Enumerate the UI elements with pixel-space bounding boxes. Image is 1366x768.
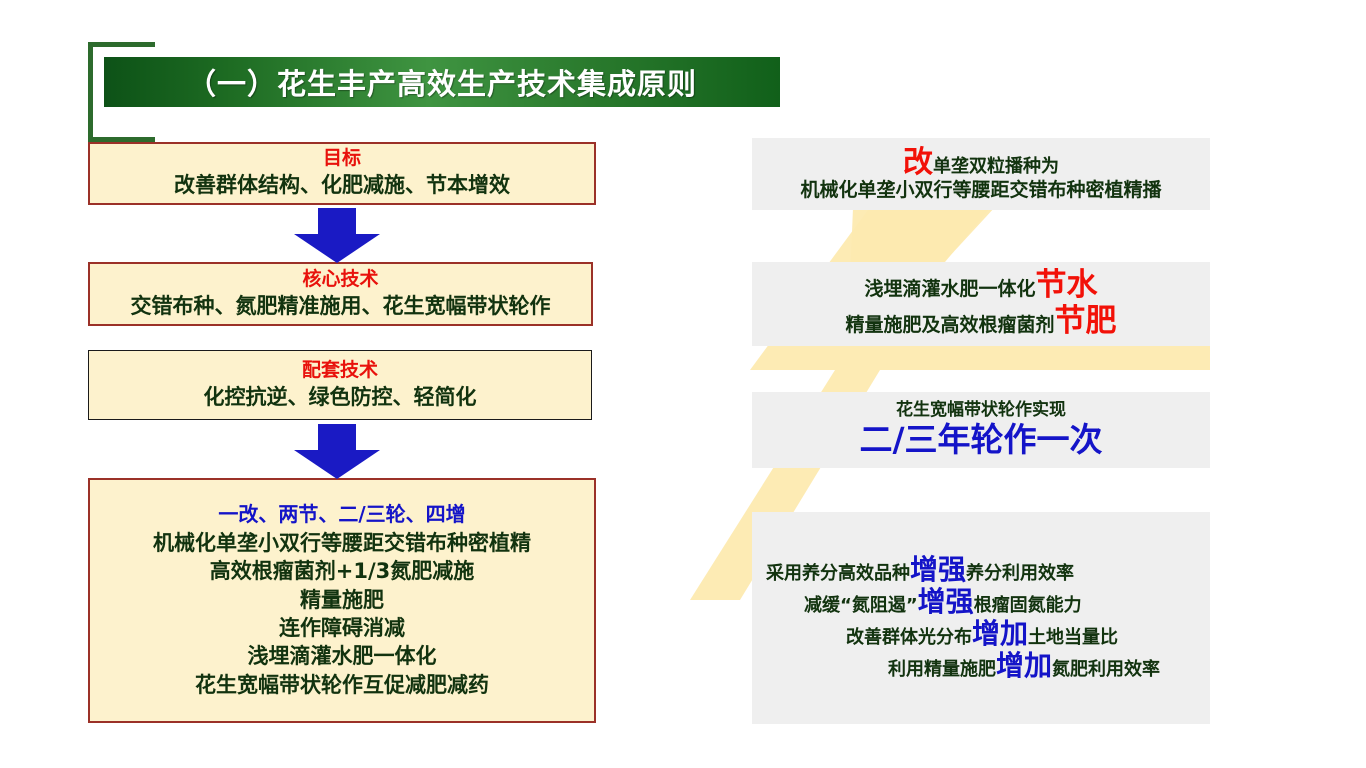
panel-lunzuo-text: 花生宽幅带状轮作实现 <box>896 400 1066 420</box>
page-title-bar: （一）花生丰产高效生产技术集成原则 <box>104 57 780 107</box>
flow-box-outcomes[interactable]: 一改、两节、二/三轮、四增 机械化单垄小双行等腰距交错布种密植精 高效根瘤菌剂+… <box>88 478 596 723</box>
panel-gai-emphasis-1: 改 <box>903 145 933 180</box>
panel-zengqiang-line-1: 采用养分高效品种增强养分利用效率 <box>752 554 1210 586</box>
flow-box-outcomes-heading: 一改、两节、二/三轮、四增 <box>218 502 465 527</box>
panel-gai-line-1: 改单垄双粒播种为 <box>752 146 1210 181</box>
slide-canvas: （一）花生丰产高效生产技术集成原则 目标 改善群体结构、化肥减施、节本增效 核心… <box>0 0 1366 768</box>
panel-lunzuo[interactable]: 花生宽幅带状轮作实现 二/三年轮作一次 <box>752 392 1210 468</box>
down-arrow-2 <box>288 424 386 480</box>
panel-lunzuo-emphasis: 二/三年轮作一次 <box>859 420 1102 459</box>
page-title: （一）花生丰产高效生产技术集成原则 <box>187 61 697 103</box>
panel-zq2-pre: 减缓“氮阻遏” <box>804 595 918 616</box>
panel-zj2-emphasis: 增加 <box>996 649 1052 682</box>
panel-zengqiang-zengjia[interactable]: 采用养分高效品种增强养分利用效率 减缓“氮阻遏”增强根瘤固氮能力 改善群体光分布… <box>752 512 1210 724</box>
panel-zq2-emphasis: 增强 <box>918 585 974 618</box>
panel-zq1-pre: 采用养分高效品种 <box>766 563 910 584</box>
panel-gai-text-1: 单垄双粒播种为 <box>933 156 1059 177</box>
flow-box-support-tech-heading: 配套技术 <box>302 359 378 383</box>
panel-zengjia-line-2: 利用精量施肥增加氮肥利用效率 <box>752 650 1210 682</box>
panel-lunzuo-line-1: 花生宽幅带状轮作实现 <box>752 401 1210 421</box>
panel-jiefei-line: 精量施肥及高效根瘤菌剂节肥 <box>752 304 1210 340</box>
flow-box-goal[interactable]: 目标 改善群体结构、化肥减施、节本增效 <box>88 142 596 205</box>
panel-gai-text-2: 机械化单垄小双行等腰距交错布种密植精播 <box>800 179 1161 201</box>
flow-box-outcomes-line-1: 机械化单垄小双行等腰距交错布种密植精 <box>153 529 531 557</box>
panel-jieshui-line: 浅埋滴灌水肥一体化节水 <box>752 268 1210 304</box>
panel-jieshui-emphasis: 节水 <box>1036 267 1098 303</box>
panel-zj2-pre: 利用精量施肥 <box>888 659 996 680</box>
panel-jieshui-text: 浅埋滴灌水肥一体化 <box>864 278 1035 300</box>
panel-jiefei-emphasis: 节肥 <box>1055 303 1117 339</box>
flow-box-goal-heading: 目标 <box>323 147 361 171</box>
panel-gai-line-2: 机械化单垄小双行等腰距交错布种密植精播 <box>752 180 1210 202</box>
panel-zq1-emphasis: 增强 <box>910 553 966 586</box>
panel-zq1-post: 养分利用效率 <box>966 563 1074 584</box>
flow-box-outcomes-line-4: 连作障碍消减 <box>279 614 405 642</box>
panel-zengjia-line-1: 改善群体光分布增加土地当量比 <box>752 618 1210 650</box>
flow-box-outcomes-line-5: 浅埋滴灌水肥一体化 <box>248 642 437 670</box>
panel-zj1-post: 土地当量比 <box>1028 627 1118 648</box>
down-arrow-1 <box>288 208 386 264</box>
flow-box-core-tech[interactable]: 核心技术 交错布种、氮肥精准施用、花生宽幅带状轮作 <box>88 262 593 326</box>
flow-box-support-tech-line-1: 化控抗逆、绿色防控、轻简化 <box>204 383 477 411</box>
panel-zengqiang-line-2: 减缓“氮阻遏”增强根瘤固氮能力 <box>752 586 1210 618</box>
flow-box-core-tech-heading: 核心技术 <box>302 268 378 292</box>
panel-jieshui-jiefei[interactable]: 浅埋滴灌水肥一体化节水 精量施肥及高效根瘤菌剂节肥 <box>752 262 1210 346</box>
panel-gai[interactable]: 改单垄双粒播种为 机械化单垄小双行等腰距交错布种密植精播 <box>752 138 1210 210</box>
flow-box-outcomes-line-2: 高效根瘤菌剂+1/3氮肥减施 <box>210 557 475 585</box>
flow-box-support-tech[interactable]: 配套技术 化控抗逆、绿色防控、轻简化 <box>88 350 592 420</box>
panel-zq2-post: 根瘤固氮能力 <box>974 595 1082 616</box>
panel-lunzuo-line-2: 二/三年轮作一次 <box>752 421 1210 459</box>
panel-zj2-post: 氮肥利用效率 <box>1052 659 1160 680</box>
flow-box-outcomes-line-6: 花生宽幅带状轮作互促减肥减药 <box>195 671 489 699</box>
panel-zj1-emphasis: 增加 <box>972 617 1028 650</box>
flow-box-goal-line-1: 改善群体结构、化肥减施、节本增效 <box>174 171 510 199</box>
panel-jiefei-text: 精量施肥及高效根瘤菌剂 <box>845 314 1054 336</box>
flow-box-outcomes-line-3: 精量施肥 <box>300 586 384 614</box>
flow-box-core-tech-line-1: 交错布种、氮肥精准施用、花生宽幅带状轮作 <box>131 292 551 320</box>
panel-zj1-pre: 改善群体光分布 <box>846 627 972 648</box>
